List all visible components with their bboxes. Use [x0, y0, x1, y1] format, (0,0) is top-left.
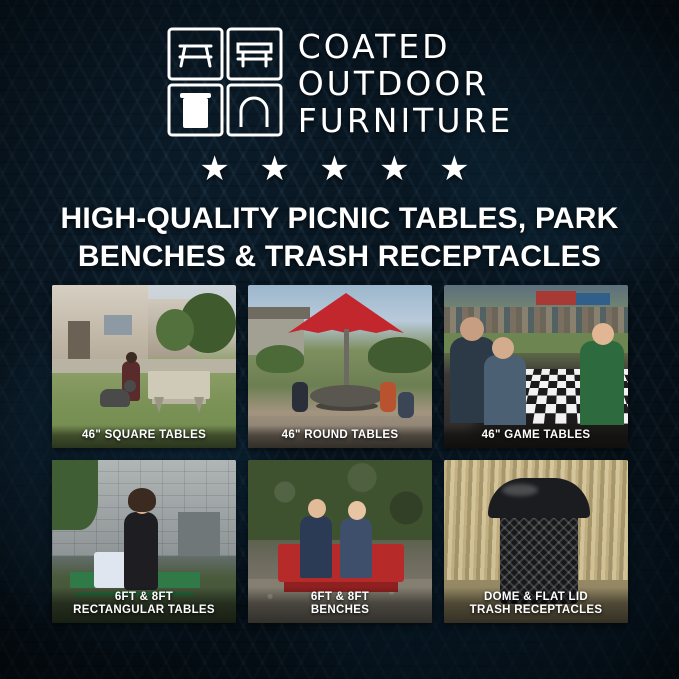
photo-shrub-right	[368, 337, 432, 373]
photo-door	[68, 321, 90, 359]
photo-round-table	[310, 385, 384, 407]
photo-child-right	[340, 518, 372, 578]
photo-person-right	[380, 382, 396, 412]
product-card-game-tables[interactable]: 46" GAME TABLES	[444, 285, 628, 448]
product-caption: 6FT & 8FT RECTANGULAR TABLES	[52, 587, 236, 623]
product-caption-line-1: 46" SQUARE TABLES	[82, 429, 206, 441]
product-card-round-tables[interactable]: 46" ROUND TABLES	[248, 285, 432, 448]
photo-person-three	[580, 341, 624, 425]
advertisement-banner: COATED OUTDOOR FURNITURE ★ ★ ★ ★ ★ HIGH-…	[0, 0, 679, 679]
photo-lid-highlight	[502, 484, 538, 496]
headline-line-1: HIGH-QUALITY PICNIC TABLES, PARK	[24, 200, 655, 238]
photo-tree-small	[156, 309, 194, 351]
headline: HIGH-QUALITY PICNIC TABLES, PARK BENCHES…	[24, 200, 655, 277]
headline-line-2: BENCHES & TRASH RECEPTACLES	[24, 238, 655, 276]
product-card-benches[interactable]: 6FT & 8FT BENCHES	[248, 460, 432, 623]
logo-wordmark: COATED OUTDOOR FURNITURE	[298, 30, 514, 137]
product-caption-line-1: 6FT & 8FT	[55, 591, 233, 604]
logo-line-2: OUTDOOR	[298, 67, 514, 100]
logo-mark-icon	[166, 26, 284, 138]
product-caption-line-1: 46" GAME TABLES	[482, 429, 591, 441]
product-caption: 6FT & 8FT BENCHES	[248, 587, 432, 623]
product-caption-line-2: RECTANGULAR TABLES	[55, 604, 233, 617]
photo-canopy-red	[536, 291, 576, 305]
photo-dog	[100, 389, 130, 407]
product-caption-line-1: 6FT & 8FT	[251, 591, 429, 604]
photo-dome-lid	[488, 478, 590, 518]
photo-person-two	[484, 355, 526, 425]
photo-woman	[124, 512, 158, 590]
photo-window	[104, 315, 132, 335]
product-card-rectangular-tables[interactable]: 6FT & 8FT RECTANGULAR TABLES	[52, 460, 236, 623]
photo-roof	[248, 307, 310, 319]
product-caption: DOME & FLAT LID TRASH RECEPTACLES	[444, 587, 628, 623]
photo-shrub-left	[256, 345, 304, 373]
product-caption: 46" GAME TABLES	[444, 425, 628, 448]
product-grid: 46" SQUARE TABLES 46" ROUND TABLES	[52, 285, 628, 623]
product-caption: 46" ROUND TABLES	[248, 425, 432, 448]
brand-logo: COATED OUTDOOR FURNITURE	[0, 22, 679, 142]
product-caption-line-2: BENCHES	[251, 604, 429, 617]
product-caption: 46" SQUARE TABLES	[52, 425, 236, 448]
product-caption-line-2: TRASH RECEPTACLES	[447, 604, 625, 617]
product-card-trash-receptacles[interactable]: DOME & FLAT LID TRASH RECEPTACLES	[444, 460, 628, 623]
photo-vine	[52, 460, 98, 530]
photo-square-picnic-table	[148, 371, 210, 399]
product-caption-line-1: 46" ROUND TABLES	[282, 429, 399, 441]
photo-person-far-right	[398, 392, 414, 418]
photo-building	[52, 285, 148, 359]
product-caption-line-1: DOME & FLAT LID	[447, 591, 625, 604]
photo-child-left	[300, 516, 332, 578]
photo-ac-unit	[178, 512, 220, 556]
product-card-square-tables[interactable]: 46" SQUARE TABLES	[52, 285, 236, 448]
photo-person-left	[292, 382, 308, 412]
star-rating-icon: ★ ★ ★ ★ ★	[0, 152, 679, 186]
photo-canopy-blue	[576, 293, 610, 305]
logo-line-1: COATED	[298, 30, 514, 63]
logo-line-3: FURNITURE	[298, 104, 514, 137]
photo-umbrella-pole	[344, 329, 349, 391]
ad-content: COATED OUTDOOR FURNITURE ★ ★ ★ ★ ★ HIGH-…	[0, 0, 679, 679]
